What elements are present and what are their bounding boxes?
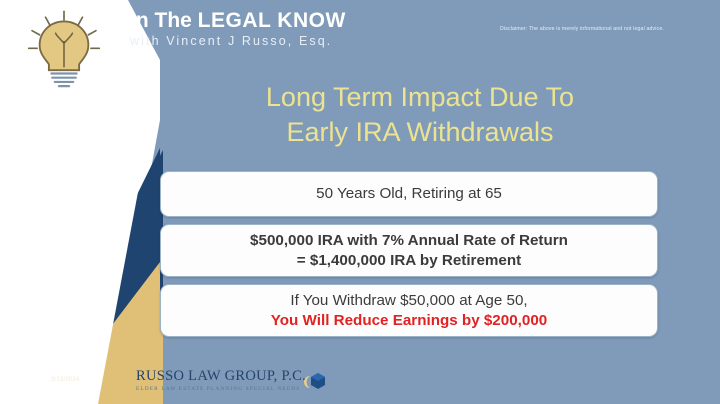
brand-title-emphasis: LEGAL KNOW	[198, 9, 346, 32]
fact-box-list: 50 Years Old, Retiring at 65 $500,000 IR…	[160, 171, 658, 337]
slide-canvas: In The LEGAL KNOW with Vincent J Russo, …	[0, 0, 720, 404]
lightbulb-icon	[22, 8, 106, 92]
fact-box-age: 50 Years Old, Retiring at 65	[160, 171, 658, 217]
gold-triangle	[40, 150, 163, 404]
fact-box-withdrawal: If You Withdraw $50,000 at Age 50, You W…	[160, 284, 658, 337]
fact-line: $500,000 IRA with 7% Annual Rate of Retu…	[250, 231, 568, 250]
gold-triangle-front	[45, 150, 160, 404]
brand-title: In The LEGAL KNOW	[130, 10, 460, 32]
page-title-line2: Early IRA Withdrawals	[150, 115, 690, 150]
navy-triangle	[30, 150, 163, 404]
navy-triangle-front	[34, 148, 160, 404]
hexagon-logo-icon	[300, 370, 330, 394]
fact-line: If You Withdraw $50,000 at Age 50,	[290, 291, 527, 310]
fact-line: = $1,400,000 IRA by Retirement	[297, 251, 521, 270]
disclaimer-text: Disclaimer: The above is merely informat…	[462, 26, 702, 32]
page-title: Long Term Impact Due To Early IRA Withdr…	[150, 80, 690, 149]
fact-line-highlight: You Will Reduce Earnings by $200,000	[271, 311, 547, 330]
page-title-line1: Long Term Impact Due To	[266, 82, 574, 112]
brand-subtitle: with Vincent J Russo, Esq.	[130, 34, 460, 48]
brand-header: In The LEGAL KNOW with Vincent J Russo, …	[130, 10, 460, 48]
fact-line: 50 Years Old, Retiring at 65	[316, 184, 502, 203]
fact-box-balance: $500,000 IRA with 7% Annual Rate of Retu…	[160, 224, 658, 277]
brand-title-prefix: In The	[130, 9, 198, 32]
date-stamp: 3/13/2024	[51, 377, 80, 383]
